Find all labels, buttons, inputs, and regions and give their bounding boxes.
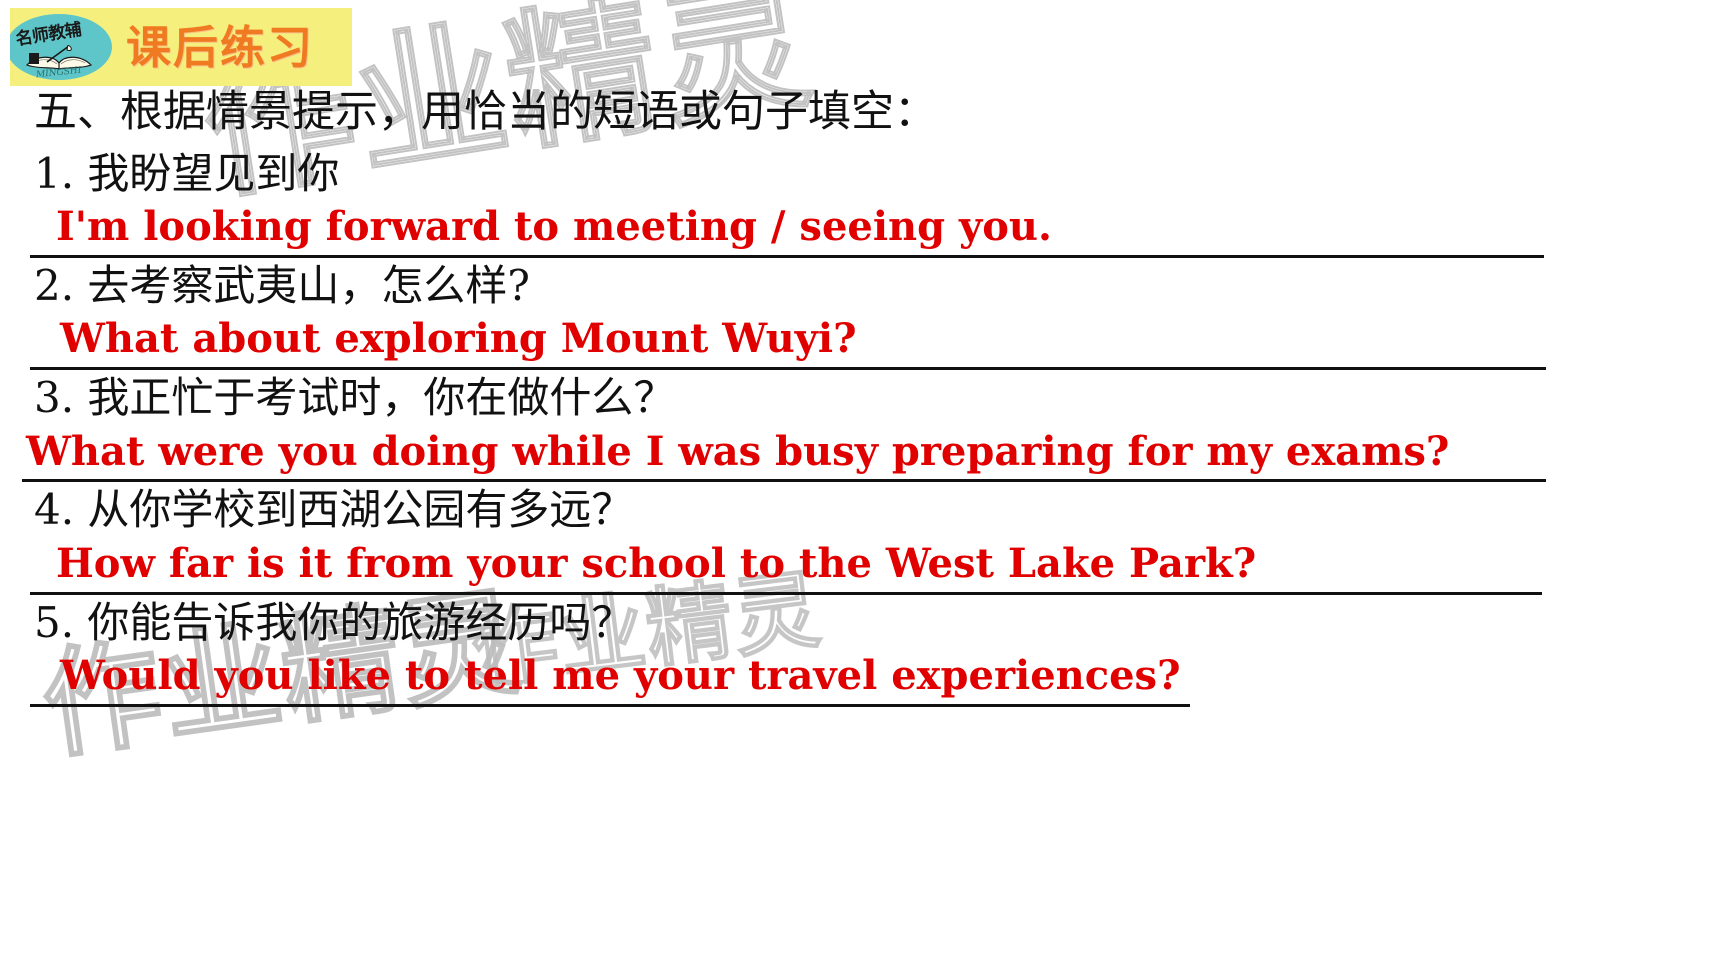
worksheet-content: 五、根据情景提示，用恰当的短语或句子填空： 1. 我盼望见到你 I'm look… — [0, 86, 1728, 707]
answer-blank[interactable]: What about exploring Mount Wuyi? — [0, 315, 1728, 370]
answer-text: What about exploring Mount Wuyi? — [0, 315, 1728, 367]
answer-blank[interactable]: How far is it from your school to the We… — [0, 540, 1728, 595]
question-prompt: 3. 我正忙于考试时，你在做什么？ — [0, 370, 1728, 425]
question-prompt: 4. 从你学校到西湖公园有多远？ — [0, 482, 1728, 537]
question-item: 4. 从你学校到西湖公园有多远？ How far is it from your… — [0, 482, 1728, 594]
section-heading: 五、根据情景提示，用恰当的短语或句子填空： — [0, 86, 1728, 140]
answer-blank[interactable]: Would you like to tell me your travel ex… — [0, 652, 1728, 707]
answer-text: Would you like to tell me your travel ex… — [0, 652, 1728, 704]
question-item: 5. 你能告诉我你的旅游经历吗？ Would you like to tell … — [0, 595, 1728, 707]
question-item: 3. 我正忙于考试时，你在做什么？ What were you doing wh… — [0, 370, 1728, 482]
answer-text: How far is it from your school to the We… — [0, 540, 1728, 592]
answer-blank[interactable]: I'm looking forward to meeting / seeing … — [0, 203, 1728, 258]
question-prompt: 1. 我盼望见到你 — [0, 146, 1728, 201]
answer-text: What were you doing while I was busy pre… — [0, 428, 1728, 480]
answer-text: I'm looking forward to meeting / seeing … — [0, 203, 1728, 255]
question-item: 2. 去考察武夷山，怎么样? What about exploring Moun… — [0, 258, 1728, 370]
section-banner: 名师教辅 MINGSHI 课后练习 — [0, 8, 352, 86]
answer-blank[interactable]: What were you doing while I was busy pre… — [0, 428, 1728, 483]
question-prompt: 5. 你能告诉我你的旅游经历吗？ — [0, 595, 1728, 650]
worksheet-page: 作业精灵 作业精灵 作业精灵 名师教辅 MINGSHI 课后练习 五、根据情景提… — [0, 0, 1728, 972]
page-left-margin — [0, 0, 10, 972]
answer-rule — [30, 704, 1190, 707]
banner-title: 课后练习 — [126, 25, 314, 70]
question-prompt: 2. 去考察武夷山，怎么样? — [0, 258, 1728, 313]
publisher-logo: 名师教辅 MINGSHI — [6, 12, 112, 82]
question-item: 1. 我盼望见到你 I'm looking forward to meeting… — [0, 146, 1728, 258]
